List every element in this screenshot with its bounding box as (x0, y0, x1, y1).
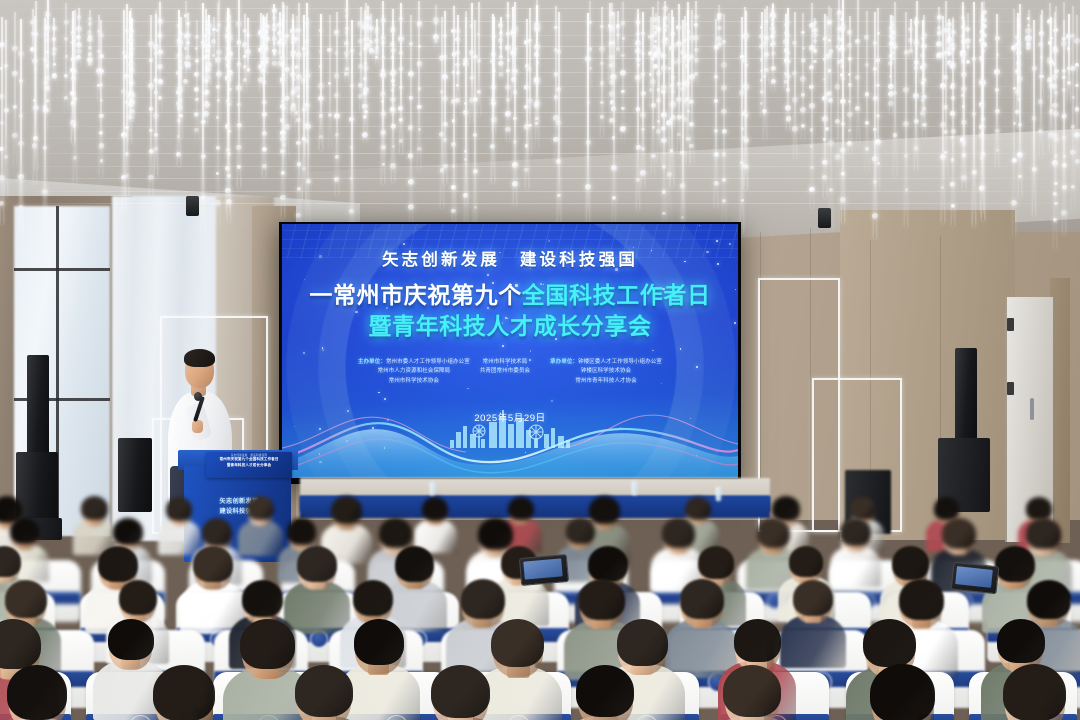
audience-hair (850, 497, 875, 520)
audience-hair (617, 619, 668, 666)
audience-hair (81, 496, 108, 520)
audience-hair (723, 665, 781, 717)
screen-title-line2: 暨青年科技人才成长分享会 (282, 311, 738, 342)
audience-hair (461, 579, 505, 619)
audience-hair (995, 546, 1035, 582)
audience-hair (508, 497, 534, 520)
audience-hair (789, 546, 823, 577)
audience-hair (7, 665, 67, 720)
audience-hair (1027, 580, 1071, 619)
audience-hair (295, 665, 353, 717)
screen-title-line1-white: 一常州市庆祝第九个 (309, 282, 521, 308)
audience-hair (899, 579, 944, 620)
audience-hair (698, 546, 734, 579)
audience-hair (793, 580, 833, 616)
audience-hair (870, 664, 935, 720)
audio-speaker-right-top (955, 348, 977, 444)
audience-hair (942, 518, 976, 549)
host-item-2: 常州市科学技术协会 (358, 377, 470, 386)
door-handle[interactable] (1030, 398, 1034, 420)
phone-screen-right (955, 566, 993, 588)
audience-hair (685, 497, 711, 520)
audience-hair (566, 518, 595, 544)
ceiling-spotlight (186, 196, 199, 216)
screen-main-title: 一常州市庆祝第九个全国科技工作者日 暨青年科技人才成长分享会 (282, 280, 738, 342)
presenter-hair (184, 349, 215, 367)
audience-hair (734, 619, 781, 662)
water-bottle (430, 482, 435, 496)
window-mullion (14, 268, 110, 271)
audience-hair (287, 518, 316, 545)
audience-hair (934, 497, 959, 520)
audience-hair (997, 619, 1045, 663)
audience-hair (478, 518, 513, 550)
audio-speaker-left-mid (118, 438, 152, 512)
audience-hair (240, 619, 295, 669)
audience-hair (431, 665, 490, 718)
podium-sign-line2: 暨青年科技人才成长分享会 (206, 463, 292, 468)
audio-speaker-left-top (27, 355, 49, 461)
water-bottle (632, 481, 637, 495)
audience-hair (202, 518, 232, 546)
audience-hair (379, 518, 412, 548)
water-bottle (716, 487, 721, 501)
audience-hair (576, 665, 634, 717)
audience-hair (108, 619, 154, 660)
podium-sign: 矢志创新发展 建设科技强国 常州市庆祝第九个全国科技工作者日 暨青年科技人才成长… (206, 452, 292, 478)
ceiling-spotlight (818, 208, 831, 228)
co-host-label: 承办单位： (550, 359, 578, 365)
audience-hair (757, 518, 790, 548)
screen-organizers: 主办单位：常州市委人才工作领导小组办公室 常州市人力资源和社会保障局 常州市科学… (282, 358, 738, 386)
audience-hair (892, 546, 929, 580)
screen-text-block: 矢志创新发展 建设科技强国 一常州市庆祝第九个全国科技工作者日 暨青年科技人才成… (282, 224, 738, 478)
host-organizers: 主办单位：常州市委人才工作领导小组办公室 常州市人力资源和社会保障局 常州市科学… (358, 358, 530, 386)
audience-hair (98, 546, 138, 582)
audience-hair (119, 580, 157, 615)
audience-hair (680, 579, 724, 619)
conference-photo-scene: 矢志创新发展 建设科技强国 一常州市庆祝第九个全国科技工作者日 暨青年科技人才成… (0, 0, 1080, 720)
audience-hair (297, 546, 337, 582)
audience-hair (1026, 518, 1061, 549)
audience-hair (193, 546, 233, 582)
audience-hair (588, 546, 628, 582)
host-item-1: 常州市人力资源和社会保障局 (358, 367, 470, 376)
audience-hair (1003, 664, 1066, 720)
co-host-organizers: 承办单位：钟楼区委人才工作领导小组办公室 钟楼区科学技术协会 常州市青年科技人才… (550, 358, 662, 386)
audience-hair (1026, 497, 1052, 520)
phone-screen-center (523, 558, 562, 579)
audience-hair (840, 518, 871, 546)
door-hinge-icon (1007, 382, 1014, 395)
audience-hair (331, 496, 362, 524)
co-host-item-1: 钟楼区科学技术协会 (550, 367, 662, 376)
audience-hair (10, 518, 39, 544)
microphone-head-icon (194, 392, 202, 401)
audience-hair (662, 518, 695, 548)
ceiling-light-installation (0, 0, 1080, 250)
host-item-4: 共青团常州市委员会 (480, 367, 530, 376)
host-label: 主办单位： (358, 359, 386, 365)
screen-event-date: 2025年5月29日 (282, 410, 738, 424)
audience-torso (830, 546, 881, 587)
audience-hair (579, 579, 625, 620)
led-screen: 矢志创新发展 建设科技强国 一常州市庆祝第九个全国科技工作者日 暨青年科技人才成… (282, 224, 738, 478)
co-host-item-2: 常州市青年科技人才协会 (550, 377, 662, 386)
audience-hair (491, 619, 544, 667)
co-host-item-0: 钟楼区委人才工作领导小组办公室 (578, 359, 662, 365)
audience-hair (113, 518, 143, 545)
audience-hair (422, 497, 448, 521)
door-hinge-icon (1007, 318, 1014, 331)
audience-hair (863, 619, 916, 667)
audience-hair (242, 580, 283, 617)
presenter-hand (192, 420, 203, 433)
host-item-0: 常州市委人才工作领导小组办公室 (386, 359, 470, 365)
audience-hair (166, 497, 192, 521)
audience-hair (354, 619, 404, 665)
screen-tagline: 矢志创新发展 建设科技强国 (282, 246, 738, 270)
audience-hair (153, 665, 215, 720)
audience-hair (247, 496, 274, 520)
door-frame (1050, 278, 1070, 543)
audience-hair (589, 496, 620, 524)
audience-hair (353, 580, 393, 616)
audience-hair (395, 546, 434, 582)
screen-title-line1-cyan: 全国科技工作者日 (522, 282, 711, 308)
audience-hair (5, 580, 47, 618)
host-item-3: 常州市科学技术局 (480, 358, 530, 367)
